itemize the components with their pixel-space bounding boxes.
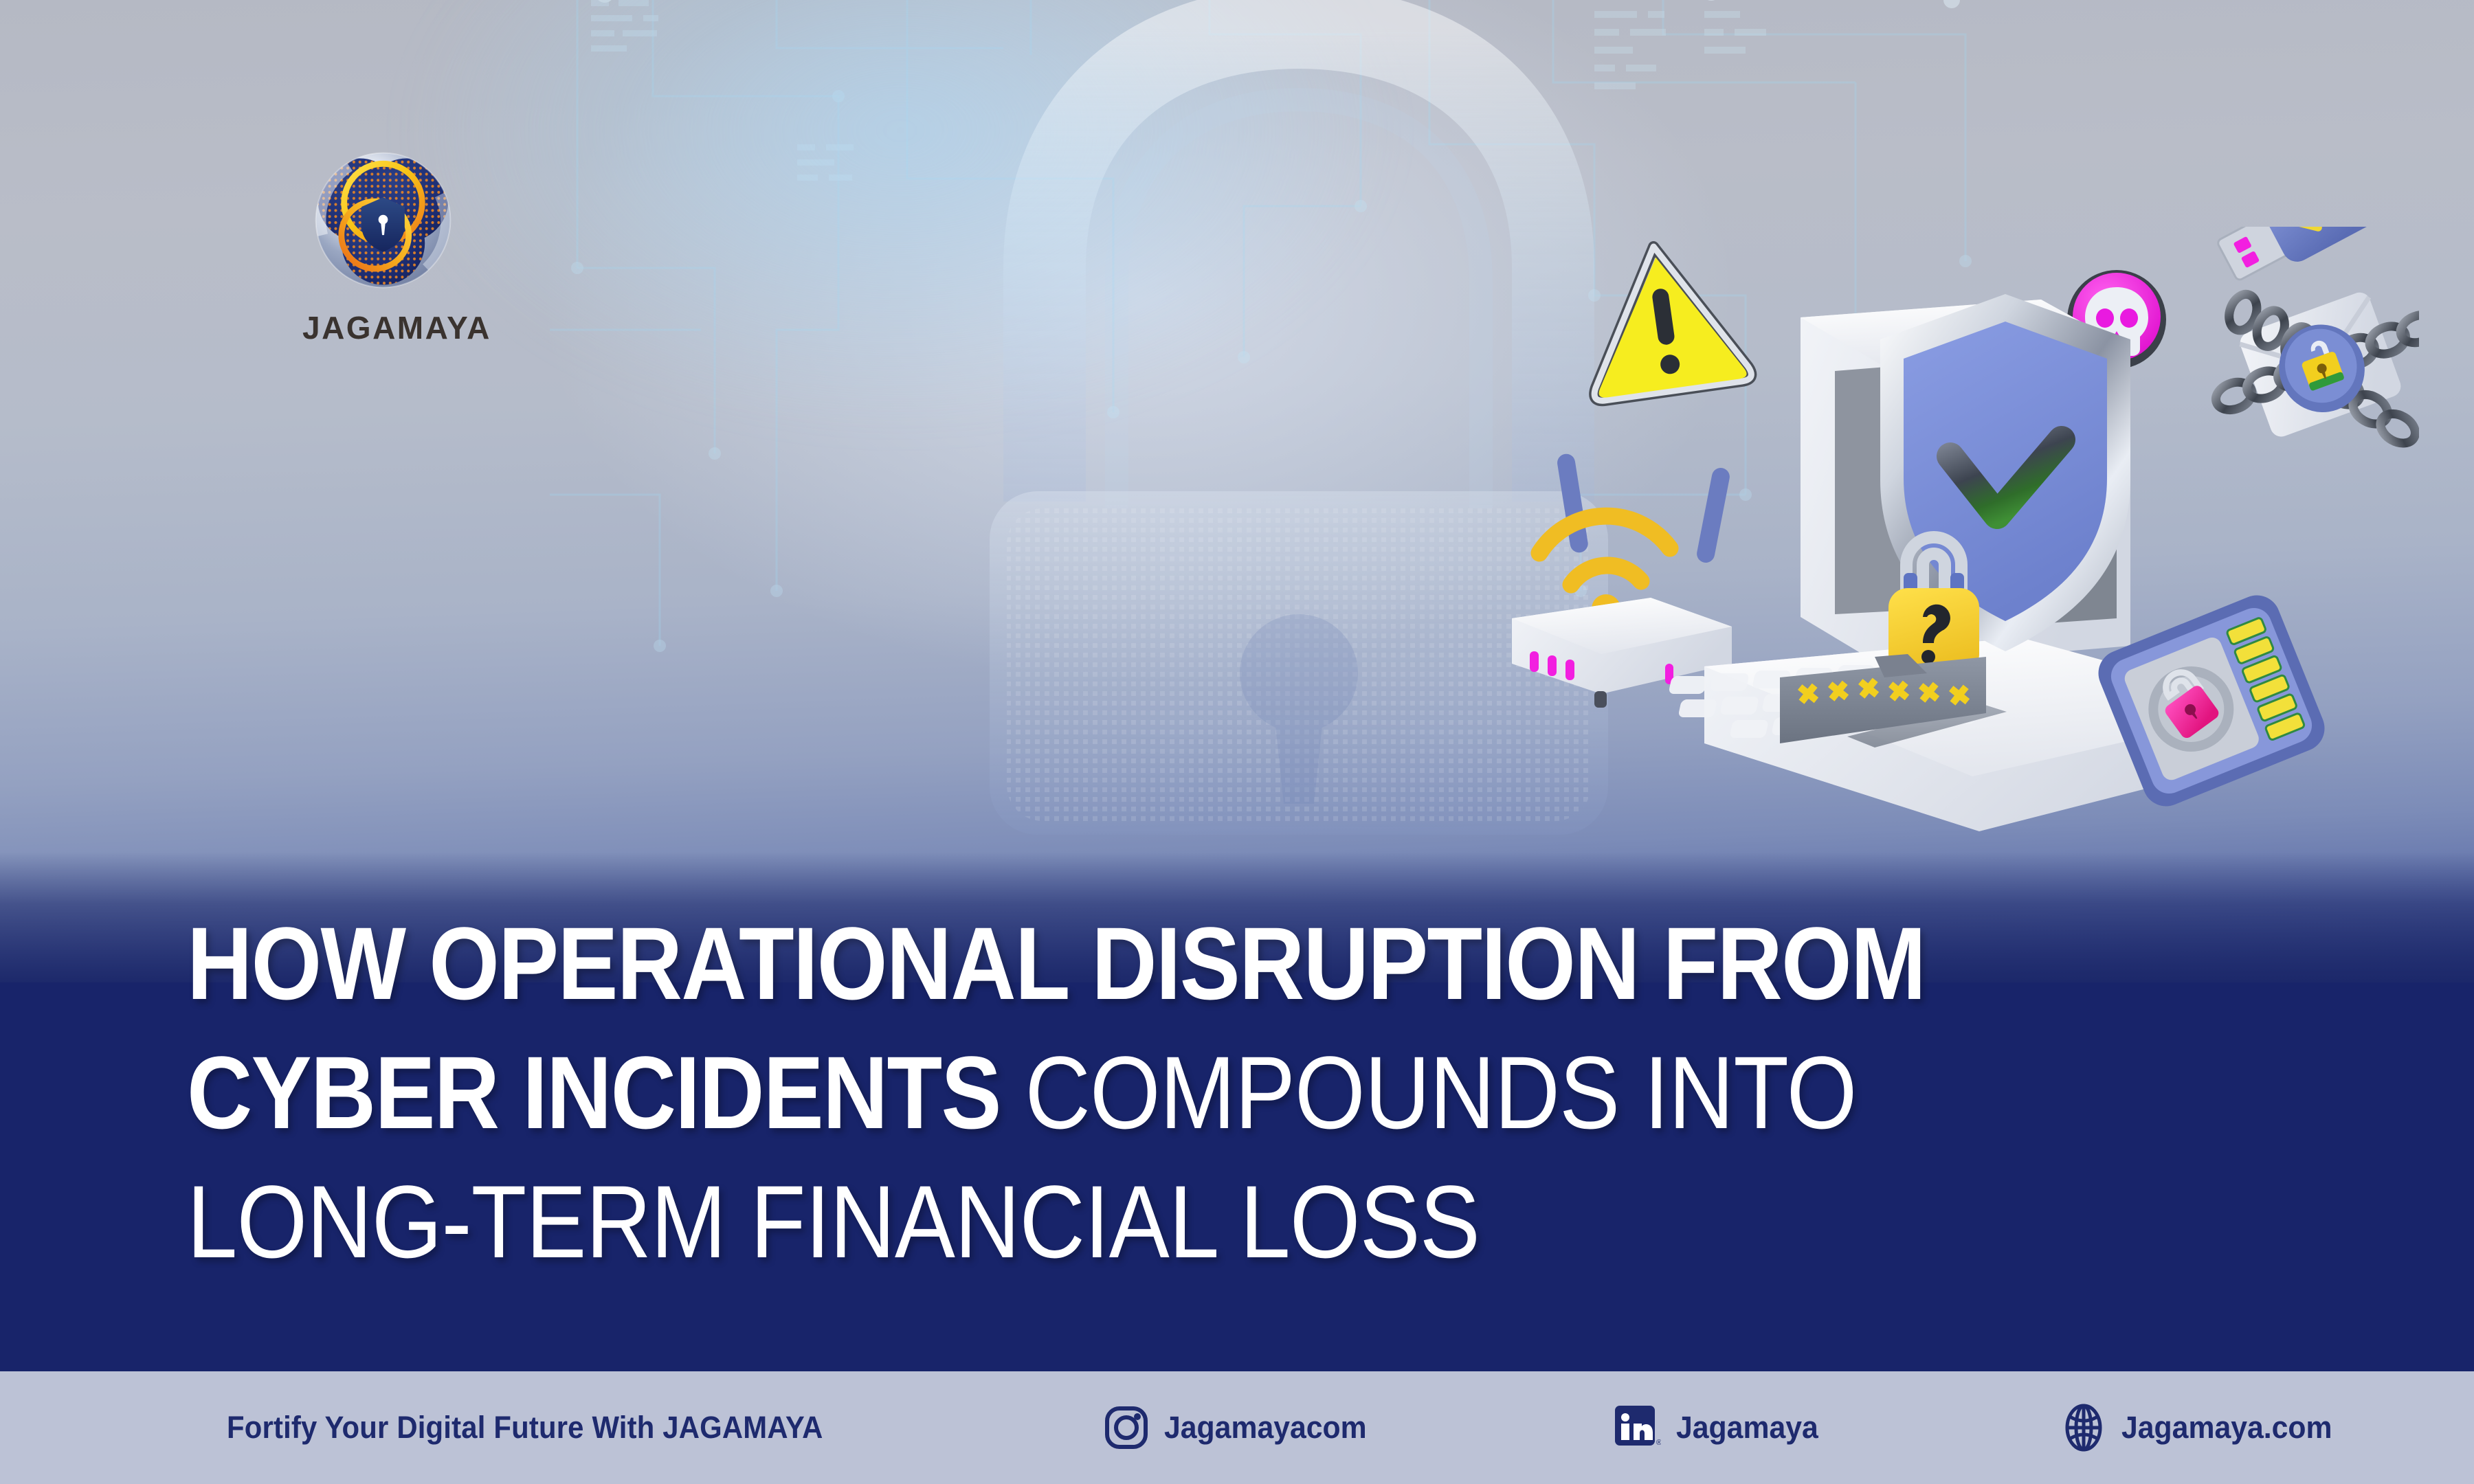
brand-logo[interactable]: JAGAMAYA [302, 141, 464, 346]
padlock-question-icon [1888, 537, 1979, 673]
footer-link-label: Jagamaya.com [2121, 1410, 2332, 1446]
usb-drive-icon [2211, 227, 2407, 292]
headline-emphasis: CYBER INCIDENTS [187, 1035, 1001, 1150]
footer-bar: Fortify Your Digital Future With JAGAMAY… [0, 1371, 2474, 1484]
wifi-router-icon [1512, 453, 1732, 708]
footer-tagline: Fortify Your Digital Future With JAGAMAY… [227, 1410, 823, 1446]
svg-text:®: ® [1656, 1439, 1661, 1447]
cybersecurity-illustration [1498, 227, 2419, 900]
logo-wordmark: JAGAMAYA [302, 309, 464, 346]
footer-link-instagram[interactable]: Jagamayacom [1104, 1405, 1377, 1450]
footer-link-label: Jagamaya [1676, 1410, 1818, 1446]
headline-block: HOW OPERATIONAL DISRUPTION FROM CYBER IN… [187, 906, 2331, 1293]
footer-link-linkedin[interactable]: ® Jagamaya [1613, 1404, 1826, 1452]
instagram-icon [1104, 1405, 1149, 1450]
globe-icon [2061, 1403, 2106, 1452]
warning-triangle-icon [1575, 236, 1752, 402]
footer-link-website[interactable]: Jagamaya.com [2061, 1403, 2343, 1452]
linkedin-icon: ® [1613, 1404, 1661, 1452]
headline-line-2: CYBER INCIDENTS COMPOUNDS INTO [187, 1035, 2074, 1150]
banner-root: JAGAMAYA [0, 0, 2474, 1484]
footer-link-label: Jagamayacom [1164, 1410, 1367, 1446]
headline-line-3: LONG-TERM FINANCIAL LOSS [187, 1164, 2074, 1279]
chained-envelope-icon [2183, 230, 2419, 505]
jagamaya-logo-icon [302, 141, 464, 302]
headline-line-2-rest: COMPOUNDS INTO [1001, 1035, 1857, 1150]
headline-line-1: HOW OPERATIONAL DISRUPTION FROM [187, 906, 2074, 1021]
